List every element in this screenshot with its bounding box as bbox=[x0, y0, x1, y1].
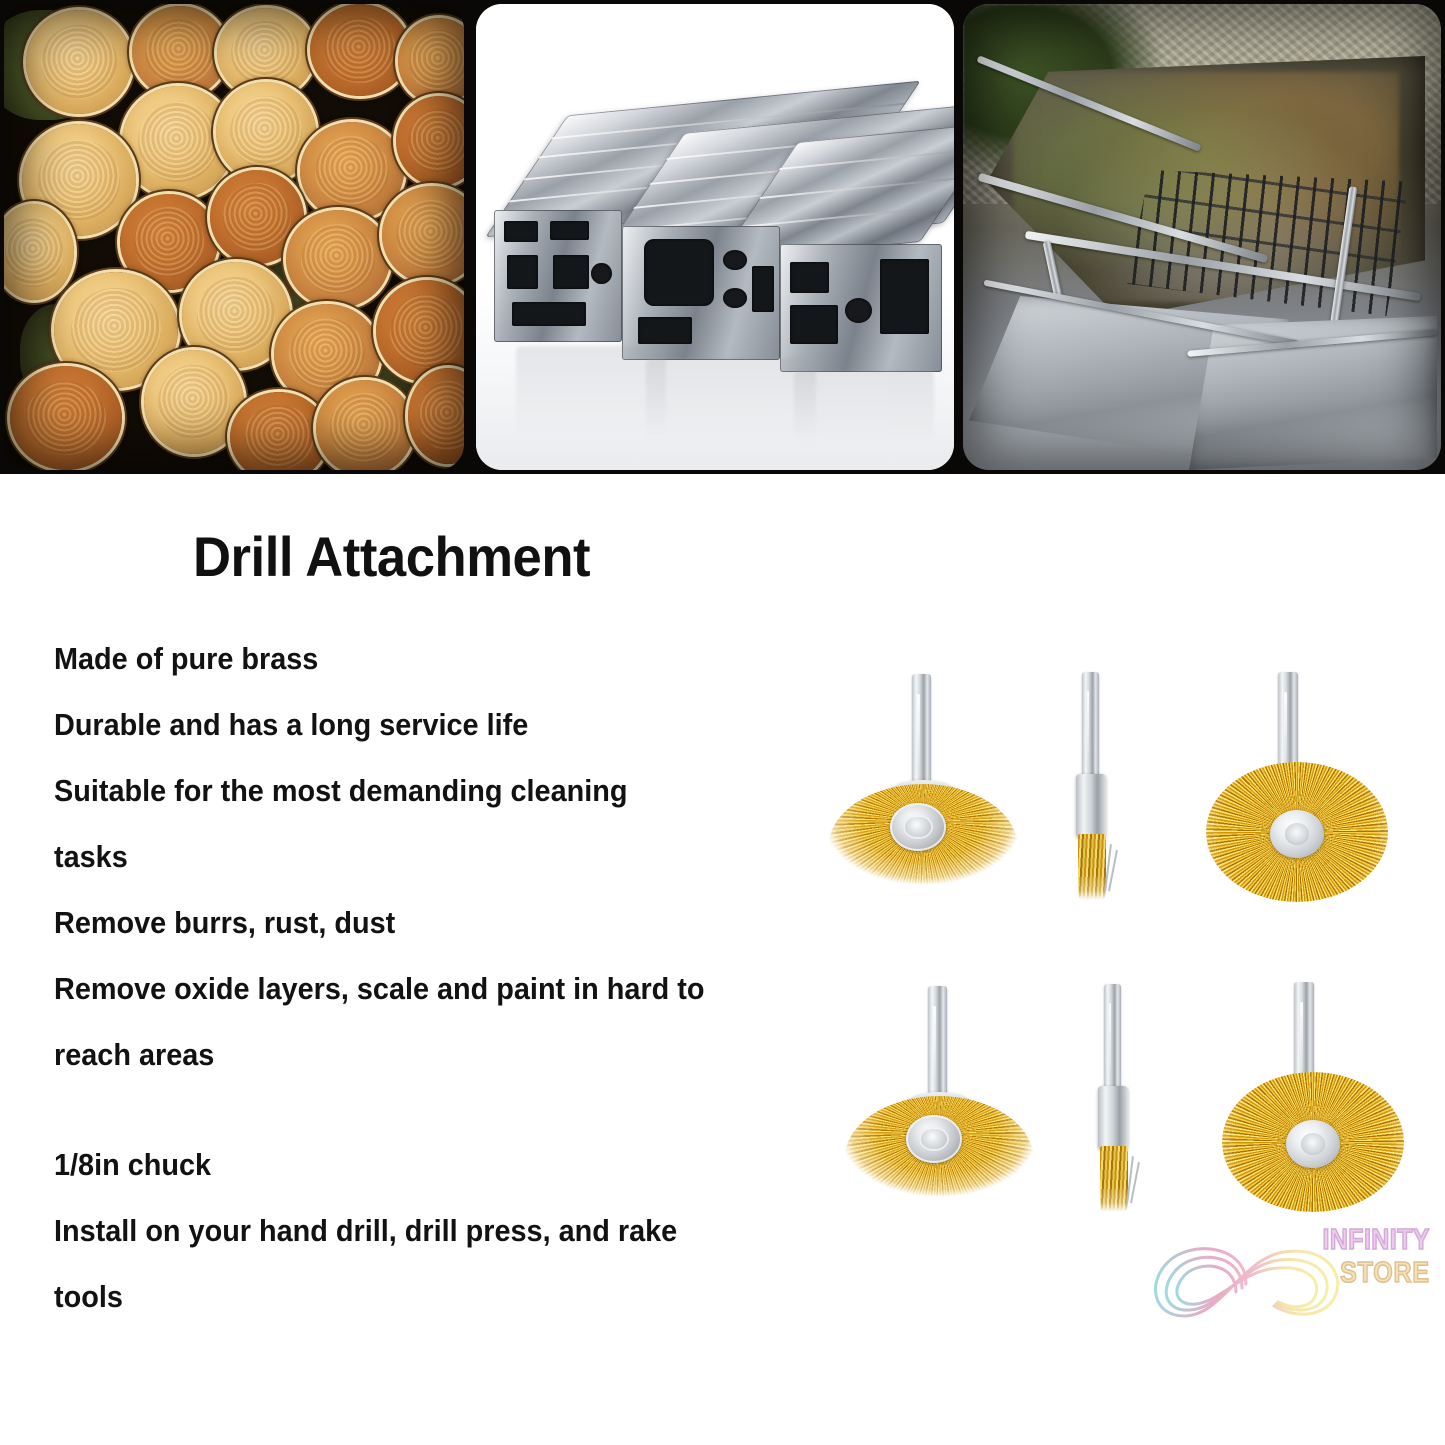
aluminum-extrusion-photo bbox=[476, 4, 954, 470]
product-info-graphic: Drill Attachment Made of pure brass Dura… bbox=[0, 0, 1445, 1445]
feature-line: Remove oxide layers, scale and paint in … bbox=[54, 956, 798, 1022]
feature-line: Durable and has a long service life bbox=[54, 692, 798, 758]
feature-line: Made of pure brass bbox=[54, 626, 798, 692]
logs-artwork bbox=[4, 4, 464, 470]
brass-cup-brush-top-left bbox=[820, 668, 1040, 898]
extrusion-artwork bbox=[476, 4, 954, 470]
brass-cup-brush-bottom-left bbox=[836, 980, 1056, 1210]
watermark-text: INFINITY STORE bbox=[1305, 1226, 1430, 1288]
brass-end-brush-bottom-middle bbox=[1082, 980, 1172, 1220]
page-title: Drill Attachment bbox=[193, 524, 590, 589]
feature-list: Made of pure brass Durable and has a lon… bbox=[54, 626, 854, 1330]
watermark-line-infinity: INFINITY bbox=[1323, 1226, 1430, 1255]
feature-line: Remove burrs, rust, dust bbox=[54, 890, 798, 956]
watermark-logo: INFINITY STORE bbox=[1138, 1212, 1438, 1362]
grill-artwork bbox=[963, 4, 1441, 470]
stacked-logs-photo bbox=[4, 4, 464, 470]
feature-line: tools bbox=[54, 1264, 798, 1330]
feature-line: reach areas bbox=[54, 1022, 798, 1088]
watermark-line-store: STORE bbox=[1323, 1259, 1430, 1288]
feature-line: Suitable for the most demanding cleaning bbox=[54, 758, 798, 824]
feature-line: tasks bbox=[54, 824, 798, 890]
brass-wheel-brush-bottom-right bbox=[1216, 978, 1431, 1213]
grill-firepit-photo bbox=[963, 4, 1441, 470]
brass-wheel-brush-top-right bbox=[1200, 668, 1415, 903]
brass-end-brush-top-middle bbox=[1060, 668, 1150, 908]
feature-line: 1/8in chuck bbox=[54, 1132, 798, 1198]
paragraph-spacer bbox=[54, 1088, 854, 1132]
photo-strip bbox=[0, 0, 1445, 474]
feature-line: Install on your hand drill, drill press,… bbox=[54, 1198, 798, 1264]
